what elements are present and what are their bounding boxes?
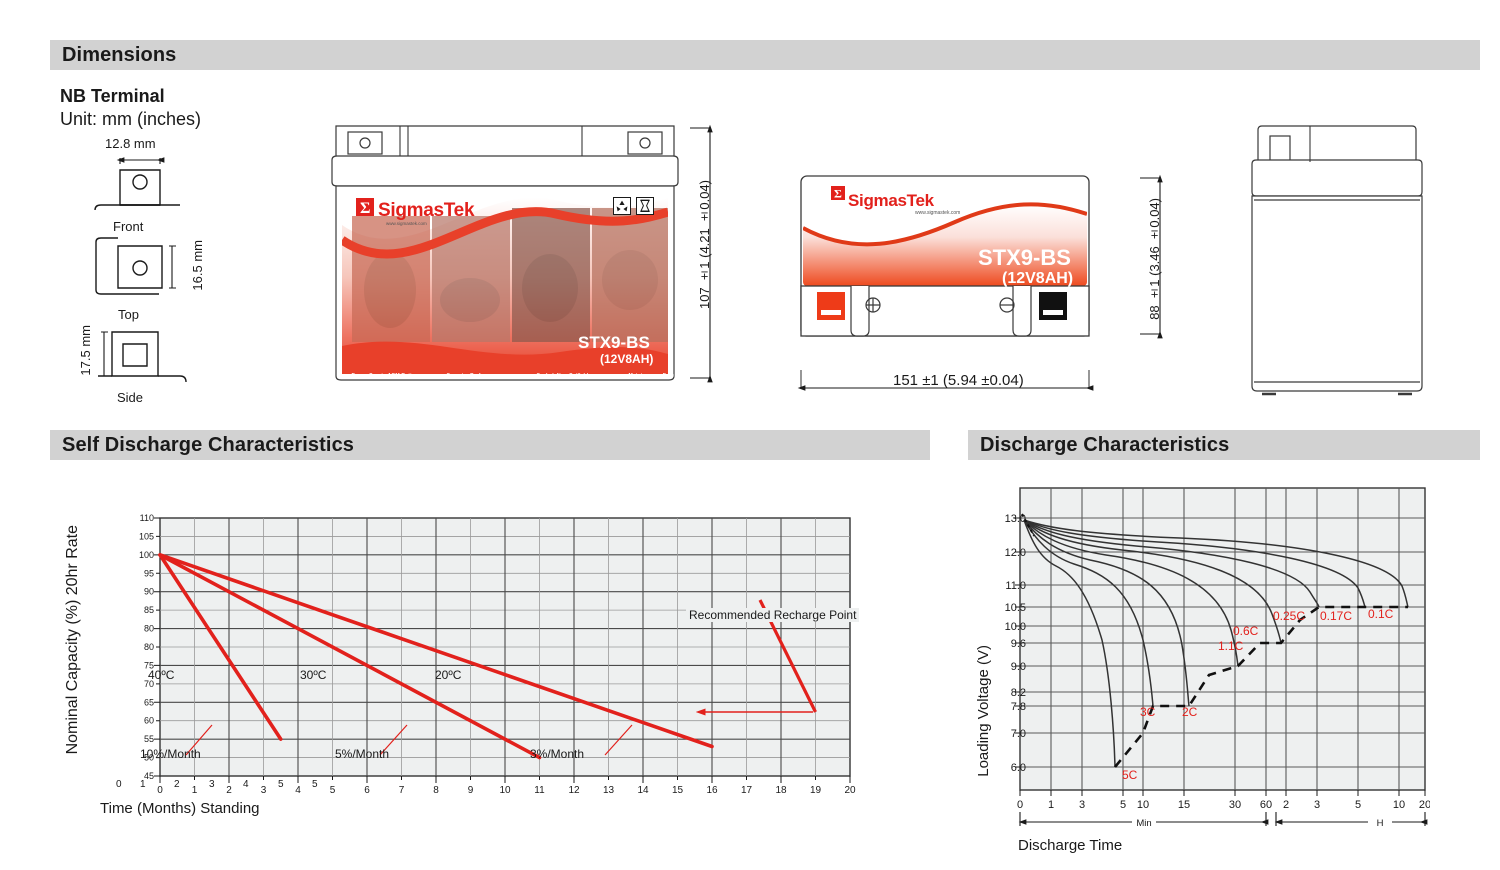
crate-label-5c: 5C (1122, 768, 1137, 782)
wheelie-bin-crossed-icon (637, 198, 654, 215)
sd-xtick-5b: 5 (278, 779, 284, 790)
view-label-side: Side (117, 390, 143, 405)
discharge-y-axis-title: Loading Voltage (V) (975, 645, 992, 777)
terminal-depth-label: 16.5 mm (190, 240, 205, 291)
crate-label-0.25c: 0.25C (1273, 609, 1305, 623)
svg-text:85: 85 (144, 605, 154, 615)
measurement-length: 151 ±1 (5.94 ±0.04) (893, 372, 1024, 389)
product-rating: (12V8AH) (600, 352, 653, 366)
measurement-height: 107 ±1 (4.21 ±0.04) (697, 180, 712, 309)
section-header-dimensions: Dimensions (50, 40, 1480, 70)
top-terminal-hole (133, 261, 147, 275)
sd-xtick-2: 2 (174, 779, 180, 790)
terminal-width-label: 12.8 mm (105, 136, 156, 151)
annotation-30c: 30ºC (300, 668, 326, 682)
annotation-rate-10: 10%/Month (140, 747, 201, 761)
sd-xtick-1: 1 (140, 779, 146, 790)
unit-label: Unit: mm (inches) (60, 109, 201, 130)
battery-outline-view (1240, 118, 1450, 403)
crate-label-2c: 2C (1182, 705, 1197, 719)
sd-xtick-4: 4 (243, 779, 249, 790)
annotation-40c: 40ºC (148, 668, 174, 682)
svg-text:80: 80 (144, 642, 154, 652)
nb-terminal-heading: NB Terminal (60, 86, 165, 107)
self-discharge-y-axis-title: Nominal Capacity (%) 20hr Rate (64, 525, 82, 754)
svg-text:55: 55 (144, 734, 154, 744)
svg-text:80: 80 (144, 624, 154, 634)
svg-text:95: 95 (144, 568, 154, 578)
svg-text:Σ: Σ (360, 200, 370, 217)
crate-label-0.1c: 0.1C (1368, 607, 1393, 621)
top-terminal-body (118, 246, 162, 288)
svg-text:110: 110 (140, 513, 154, 523)
annotation-rate-5: 5%/Month (335, 747, 389, 761)
side-terminal-body (112, 332, 158, 376)
section-title: Discharge Characteristics (980, 434, 1229, 457)
section-title: Dimensions (62, 44, 176, 67)
product-model: STX9-BS (578, 333, 650, 353)
battery-side-view: Σ (795, 170, 1135, 370)
svg-text:90: 90 (144, 587, 154, 597)
svg-text:Σ: Σ (834, 187, 842, 201)
annotation-recharge-point: Recommended Recharge Point (686, 608, 859, 622)
label-icons (613, 197, 663, 217)
crate-label-0.17c: 0.17C (1320, 609, 1352, 623)
annotation-rate-3: 3%/Month (530, 747, 584, 761)
brand-name-side: SigmasTek (848, 191, 934, 211)
product-rating-side: (12V8AH) (1002, 270, 1073, 288)
section-header-discharge: Discharge Characteristics (968, 430, 1480, 460)
sd-xtick-5: 5 (312, 779, 318, 790)
sd-xtick-0: 0 (116, 779, 122, 790)
brand-name: SigmasTek (378, 200, 474, 222)
brand-website-side: www.sigmastek.com (915, 210, 960, 216)
feature-4: • Maintenance-Free (625, 373, 674, 379)
self-discharge-x-axis-title: Time (Months) Standing (100, 800, 260, 817)
front-terminal-hole (133, 175, 147, 189)
positive-pad (817, 292, 845, 320)
measurement-side-height: 88 ±1 (3.46 ±0.04) (1147, 198, 1162, 320)
crate-label-3c: 3C (1140, 705, 1155, 719)
brand-website: www.sigmastek.com (386, 221, 427, 226)
negative-pad (1039, 292, 1067, 320)
view-label-top: Top (118, 307, 139, 322)
product-model-side: STX9-BS (978, 245, 1071, 271)
sd-xtick-3: 3 (209, 779, 215, 790)
section-header-self-discharge: Self Discharge Characteristics (50, 430, 930, 460)
terminal-height-label: 17.5 mm (78, 325, 93, 376)
discharge-x-axis-title: Discharge Time (1018, 837, 1122, 854)
svg-text:100: 100 (139, 550, 154, 560)
annotation-20c: 20ºC (435, 668, 461, 682)
recycle-icon (614, 198, 631, 215)
feature-2: • Superior Performance (443, 373, 503, 379)
feature-1: • Power Sports AGM Battery (348, 373, 420, 379)
svg-text:105: 105 (139, 531, 154, 541)
view-label-front: Front (113, 219, 143, 234)
crate-label-1.1c: 1.1C (1218, 639, 1243, 653)
section-title: Self Discharge Characteristics (62, 434, 354, 457)
terminal-diagrams (60, 130, 290, 415)
svg-text:60: 60 (144, 716, 154, 726)
feature-3: • Sealed, Non-Spillable (533, 373, 591, 379)
svg-text:65: 65 (144, 697, 154, 707)
crate-label-0.6c: 0.6C (1233, 624, 1258, 638)
